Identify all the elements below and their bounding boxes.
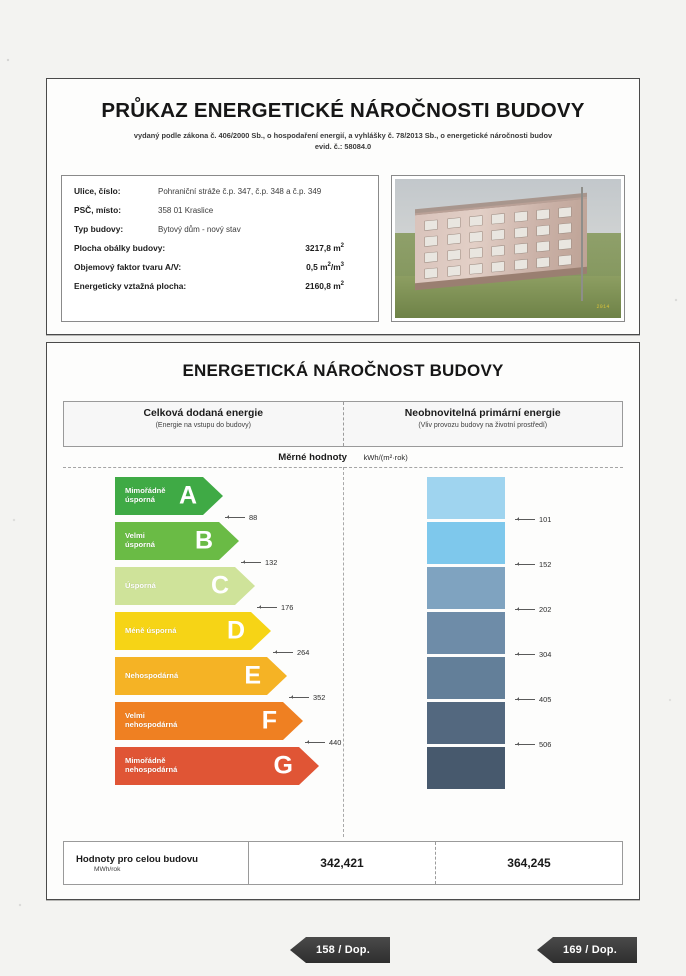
photo-window bbox=[537, 225, 549, 235]
photo-date-stamp: 2014 bbox=[597, 304, 610, 310]
energy-class-letter: F bbox=[262, 709, 277, 734]
primary-energy-scale-right: 101152202304405506 bbox=[367, 477, 637, 847]
primary-threshold-marker: 405 bbox=[515, 695, 551, 704]
building-photo-frame: 2014 bbox=[391, 175, 625, 322]
threshold-value: 202 bbox=[539, 605, 551, 614]
unit-line: Měrné hodnoty kWh/(m²·rok) bbox=[63, 447, 623, 469]
photo-window bbox=[426, 268, 438, 278]
unit-label: Měrné hodnoty bbox=[278, 452, 347, 463]
primary-energy-bar bbox=[427, 522, 505, 564]
photo-window bbox=[560, 207, 572, 217]
document-header-panel: PRŮKAZ ENERGETICKÉ NÁROČNOSTI BUDOVY vyd… bbox=[46, 78, 640, 335]
photo-window bbox=[537, 257, 549, 267]
energy-class-arrow: Méně úspornáD bbox=[115, 612, 271, 650]
energy-class-letter: D bbox=[227, 619, 245, 644]
primary-energy-bar bbox=[427, 567, 505, 609]
primary-energy-bar bbox=[427, 657, 505, 699]
energy-class-scale-left: MimořádněúspornáAVelmiúspornáBÚspornáCMé… bbox=[63, 477, 343, 847]
vertical-divider bbox=[343, 467, 344, 837]
envelope-area-label: Plocha obálky budovy: bbox=[74, 243, 256, 253]
whole-building-totals-row: Hodnoty pro celou budovu MWh/rok 342,421… bbox=[63, 841, 623, 885]
primary-threshold-marker: 101 bbox=[515, 515, 551, 524]
building-type-value: Bytový dům - nový stav bbox=[158, 225, 241, 234]
photo-window bbox=[537, 209, 549, 219]
result-pointer-primary: 169 / Dop. bbox=[537, 937, 637, 963]
energy-class-band-E: NehospodárnáE bbox=[115, 657, 287, 695]
energy-class-label: Mimořádněúsporná bbox=[125, 487, 166, 505]
street-value: Pohraniční stráže č.p. 347, č.p. 348 a č… bbox=[158, 187, 321, 196]
building-type-label: Typ budovy: bbox=[74, 224, 158, 234]
threshold-value: 405 bbox=[539, 695, 551, 704]
column-title: Neobnovitelná primární energie bbox=[344, 408, 623, 419]
column-header-delivered-energy: Celková dodaná energie (Energie na vstup… bbox=[64, 402, 343, 446]
energy-class-label: Nehospodárná bbox=[125, 672, 178, 681]
legal-reference-line: vydaný podle zákona č. 406/2000 Sb., o h… bbox=[75, 130, 611, 141]
photo-window bbox=[515, 243, 527, 253]
photo-window bbox=[560, 223, 572, 233]
table-row: Plocha obálky budovy: 3217,8 m2 bbox=[74, 243, 378, 253]
energy-class-band-A: MimořádněúspornáA bbox=[115, 477, 223, 515]
primary-threshold-marker: 506 bbox=[515, 740, 551, 749]
column-title: Celková dodaná energie bbox=[64, 408, 343, 419]
photo-window bbox=[426, 220, 438, 230]
threshold-value: 264 bbox=[297, 648, 309, 657]
energy-class-band-D: Méně úspornáD bbox=[115, 612, 271, 650]
energy-class-arrow: MimořádněnehospodárnáG bbox=[115, 747, 319, 785]
primary-energy-bar bbox=[427, 477, 505, 519]
photo-window bbox=[537, 241, 549, 251]
photo-window bbox=[426, 252, 438, 262]
photo-window bbox=[560, 239, 572, 249]
totals-value-delivered: 342,421 bbox=[249, 842, 435, 884]
energy-class-arrow: NehospodárnáE bbox=[115, 657, 287, 695]
photo-window bbox=[426, 236, 438, 246]
threshold-marker: 88 bbox=[225, 513, 257, 522]
primary-energy-bar bbox=[427, 702, 505, 744]
threshold-value: 88 bbox=[249, 513, 257, 522]
photo-window bbox=[515, 212, 527, 222]
column-headers: Celková dodaná energie (Energie na vstup… bbox=[63, 401, 623, 447]
threshold-value: 352 bbox=[313, 693, 325, 702]
photo-window bbox=[448, 266, 460, 276]
threshold-value: 440 bbox=[329, 738, 341, 747]
energy-class-band-B: VelmiúspornáB bbox=[115, 522, 239, 560]
building-photo: 2014 bbox=[395, 179, 621, 318]
postcode-label: PSČ, místo: bbox=[74, 205, 158, 215]
photo-window bbox=[493, 230, 505, 240]
shape-factor-value: 0,5 m2/m3 bbox=[256, 262, 378, 272]
photo-window bbox=[493, 261, 505, 271]
energy-class-band-G: MimořádněnehospodárnáG bbox=[115, 747, 319, 785]
column-header-primary-energy: Neobnovitelná primární energie (Vliv pro… bbox=[343, 402, 623, 446]
photo-window bbox=[470, 248, 482, 258]
result-pointer-delivered: 158 / Dop. bbox=[290, 937, 390, 963]
threshold-value: 506 bbox=[539, 740, 551, 749]
photo-window bbox=[493, 214, 505, 224]
street-label: Ulice, číslo: bbox=[74, 186, 158, 196]
photo-window bbox=[448, 234, 460, 244]
evidence-number: evid. č.: 58084.0 bbox=[75, 141, 611, 152]
totals-unit: MWh/rok bbox=[94, 866, 248, 873]
primary-threshold-marker: 304 bbox=[515, 650, 551, 659]
photo-window bbox=[470, 232, 482, 242]
energy-class-band-F: VelminehospodárnáF bbox=[115, 702, 303, 740]
energy-class-letter: C bbox=[211, 574, 229, 599]
energy-class-letter: A bbox=[179, 484, 197, 509]
totals-value-primary: 364,245 bbox=[435, 842, 622, 884]
table-row: Ulice, číslo: Pohraniční stráže č.p. 347… bbox=[74, 186, 378, 196]
photo-window bbox=[493, 246, 505, 256]
threshold-arrow-icon bbox=[515, 519, 535, 520]
primary-threshold-marker: 152 bbox=[515, 560, 551, 569]
primary-threshold-marker: 202 bbox=[515, 605, 551, 614]
threshold-arrow-icon bbox=[241, 562, 261, 563]
threshold-value: 304 bbox=[539, 650, 551, 659]
building-details-box: Ulice, číslo: Pohraniční stráže č.p. 347… bbox=[61, 175, 379, 322]
threshold-value: 176 bbox=[281, 603, 293, 612]
totals-label: Hodnoty pro celou budovu bbox=[76, 854, 248, 865]
threshold-arrow-icon bbox=[225, 517, 245, 518]
energy-class-arrow: VelmiúspornáB bbox=[115, 522, 239, 560]
section-title: ENERGETICKÁ NÁROČNOST BUDOVY bbox=[47, 361, 639, 381]
threshold-arrow-icon bbox=[515, 609, 535, 610]
energy-class-arrow: ÚspornáC bbox=[115, 567, 255, 605]
totals-label-cell: Hodnoty pro celou budovu MWh/rok bbox=[64, 842, 249, 884]
threshold-marker: 264 bbox=[273, 648, 309, 657]
building-info-area: Ulice, číslo: Pohraniční stráže č.p. 347… bbox=[61, 175, 625, 322]
shape-factor-label: Objemový faktor tvaru A/V: bbox=[74, 262, 256, 272]
photo-window bbox=[448, 218, 460, 228]
threshold-arrow-icon bbox=[305, 742, 325, 743]
energy-class-label: Méně úsporná bbox=[125, 627, 176, 636]
energy-class-letter: G bbox=[274, 754, 293, 779]
column-subtitle: (Energie na vstupu do budovy) bbox=[64, 422, 343, 429]
table-row: Objemový faktor tvaru A/V: 0,5 m2/m3 bbox=[74, 262, 378, 272]
photo-window bbox=[470, 216, 482, 226]
energy-class-label: Mimořádněnehospodárná bbox=[125, 757, 177, 775]
primary-energy-bar bbox=[427, 747, 505, 789]
page-title: PRŮKAZ ENERGETICKÉ NÁROČNOSTI BUDOVY bbox=[47, 99, 639, 123]
photo-window bbox=[515, 227, 527, 237]
photo-window bbox=[560, 255, 572, 265]
envelope-area-value: 3217,8 m2 bbox=[256, 243, 378, 253]
table-row: Typ budovy: Bytový dům - nový stav bbox=[74, 224, 378, 234]
postcode-value: 358 01 Kraslice bbox=[158, 206, 213, 215]
energy-class-label: Velmiúsporná bbox=[125, 532, 155, 550]
threshold-arrow-icon bbox=[289, 697, 309, 698]
table-row: PSČ, místo: 358 01 Kraslice bbox=[74, 205, 378, 215]
reference-area-label: Energeticky vztažná plocha: bbox=[74, 281, 256, 291]
threshold-marker: 132 bbox=[241, 558, 277, 567]
threshold-arrow-icon bbox=[515, 744, 535, 745]
reference-area-value: 2160,8 m2 bbox=[256, 281, 378, 291]
unit-value: kWh/(m²·rok) bbox=[363, 453, 407, 462]
photo-window bbox=[515, 259, 527, 269]
energy-class-letter: E bbox=[244, 664, 261, 689]
threshold-arrow-icon bbox=[515, 699, 535, 700]
energy-class-label: Velminehospodárná bbox=[125, 712, 177, 730]
energy-class-arrow: MimořádněúspornáA bbox=[115, 477, 223, 515]
photo-window bbox=[470, 264, 482, 274]
threshold-arrow-icon bbox=[257, 607, 277, 608]
column-subtitle: (Vliv provozu budovy na životní prostřed… bbox=[344, 422, 623, 429]
threshold-marker: 352 bbox=[289, 693, 325, 702]
threshold-marker: 176 bbox=[257, 603, 293, 612]
threshold-value: 132 bbox=[265, 558, 277, 567]
primary-energy-bar bbox=[427, 612, 505, 654]
scanned-page: PRŮKAZ ENERGETICKÉ NÁROČNOSTI BUDOVY vyd… bbox=[0, 0, 686, 976]
document-legal-subtitle: vydaný podle zákona č. 406/2000 Sb., o h… bbox=[47, 130, 639, 153]
threshold-value: 101 bbox=[539, 515, 551, 524]
energy-class-band-C: ÚspornáC bbox=[115, 567, 255, 605]
photo-lamp-post bbox=[581, 187, 583, 301]
energy-class-label: Úsporná bbox=[125, 582, 156, 591]
table-row: Energeticky vztažná plocha: 2160,8 m2 bbox=[74, 281, 378, 291]
threshold-arrow-icon bbox=[515, 654, 535, 655]
threshold-arrow-icon bbox=[515, 564, 535, 565]
threshold-arrow-icon bbox=[273, 652, 293, 653]
energy-performance-panel: ENERGETICKÁ NÁROČNOST BUDOVY Celková dod… bbox=[46, 342, 640, 900]
photo-window bbox=[448, 250, 460, 260]
threshold-value: 152 bbox=[539, 560, 551, 569]
energy-class-arrow: VelminehospodárnáF bbox=[115, 702, 303, 740]
threshold-marker: 440 bbox=[305, 738, 341, 747]
energy-class-letter: B bbox=[195, 529, 213, 554]
